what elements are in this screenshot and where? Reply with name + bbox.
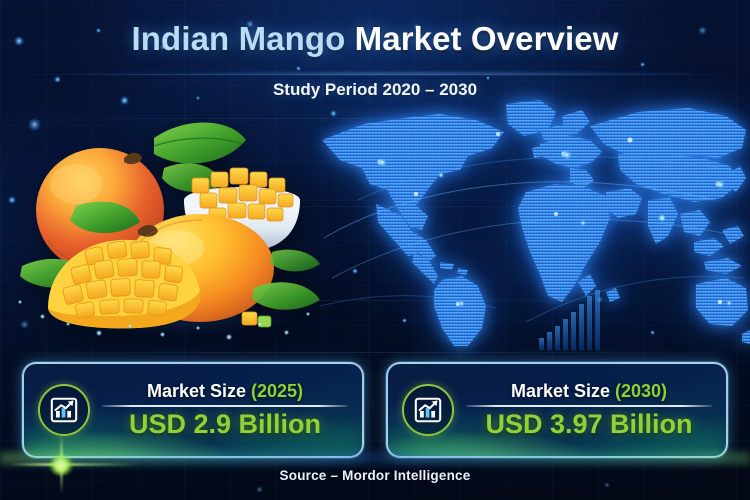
stat-card-divider — [466, 405, 712, 407]
stat-card-label: Market Size — [511, 381, 615, 401]
stat-card-2030[interactable]: Market Size (2030) USD 3.97 Billion — [386, 362, 728, 458]
stat-card-year: (2025) — [251, 381, 303, 401]
bottom-glow-strip — [0, 452, 750, 464]
stat-card-value: USD 3.97 Billion — [466, 409, 712, 439]
stat-card-value: USD 2.9 Billion — [102, 409, 348, 439]
stat-cards: Market Size (2025) USD 2.9 Billion — [22, 362, 728, 458]
stat-card-heading: Market Size (2025) — [102, 381, 348, 402]
growth-bar-chart-icon — [402, 384, 454, 436]
infographic-canvas: Indian Mango Market Overview Study Perio… — [0, 0, 750, 500]
page-title-rest: Market Overview — [345, 20, 618, 57]
stat-card-label: Market Size — [147, 381, 251, 401]
growth-bar-chart-icon — [38, 384, 90, 436]
mango-photo — [14, 100, 334, 345]
stat-card-year: (2030) — [615, 381, 667, 401]
page-title: Indian Mango Market Overview — [0, 20, 750, 58]
title-underglow — [60, 72, 690, 75]
study-period-subtitle: Study Period 2020 – 2030 — [0, 80, 750, 100]
source-credit: Source – Mordor Intelligence — [0, 468, 750, 483]
background-trend-bars — [539, 290, 600, 350]
stat-card-2025[interactable]: Market Size (2025) USD 2.9 Billion — [22, 362, 364, 458]
page-title-highlight: Indian Mango — [132, 20, 346, 57]
stat-card-heading: Market Size (2030) — [466, 381, 712, 402]
stat-card-body: Market Size (2030) USD 3.97 Billion — [454, 381, 716, 440]
stat-card-body: Market Size (2025) USD 2.9 Billion — [90, 381, 352, 440]
stat-card-divider — [102, 405, 348, 407]
map-connection-arcs — [318, 96, 750, 346]
